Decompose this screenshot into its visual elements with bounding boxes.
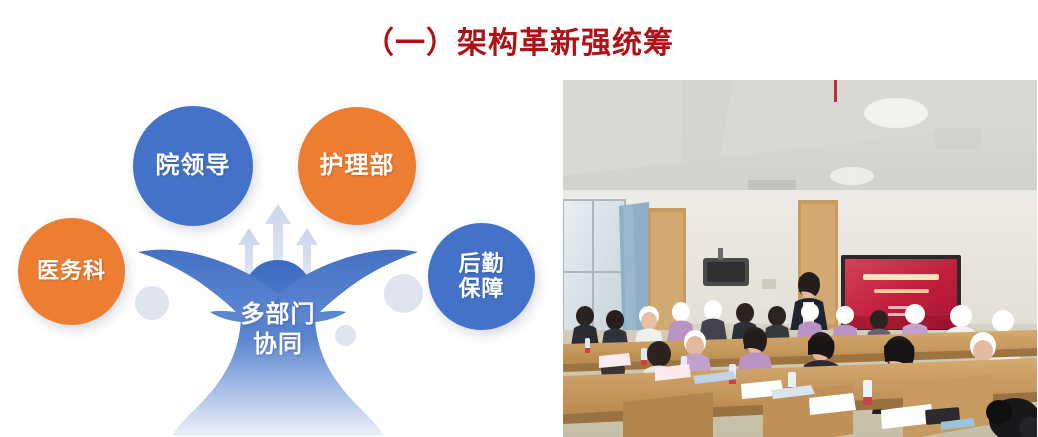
node-hulibu[interactable]: 护理部 — [298, 107, 416, 225]
camera-foreground — [986, 398, 1037, 437]
person-with-raised-arms-icon — [118, 198, 438, 437]
node-yiwuke[interactable]: 医务科 — [18, 218, 125, 325]
node-yuanlingdao[interactable]: 院领导 — [133, 106, 253, 226]
multi-department-diagram: 多部门 协同 医务科 院领导 护理部 后勤 保障 — [0, 78, 555, 437]
node-houqinbaozhang-line2: 保障 — [458, 276, 504, 301]
conference-room-photo — [563, 80, 1037, 437]
node-houqinbaozhang-label: 后勤 保障 — [458, 252, 504, 301]
node-houqinbaozhang[interactable]: 后勤 保障 — [428, 223, 535, 330]
node-hulibu-label: 护理部 — [320, 153, 395, 180]
node-houqinbaozhang-line1: 后勤 — [458, 251, 504, 276]
page-title: （一）架构革新强统筹 — [0, 18, 1038, 62]
node-yiwuke-label: 医务科 — [37, 259, 106, 284]
node-yuanlingdao-label: 院领导 — [156, 153, 231, 180]
